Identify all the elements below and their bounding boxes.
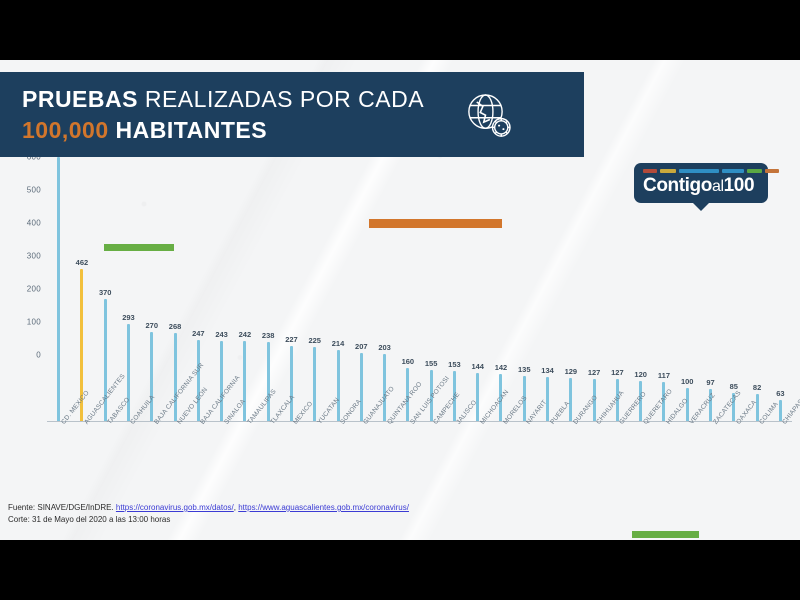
x-label-slot: TLAXCALA [257, 421, 280, 487]
footer-line-2: Corte: 31 de Mayo del 2020 a las 13:00 h… [8, 514, 409, 526]
bar-slot[interactable] [47, 157, 70, 421]
bar-value-label: 225 [308, 336, 321, 345]
y-tick-300: 300 [27, 252, 41, 261]
source-footer: Fuente: SINAVE/DGE/InDRE. https://corona… [8, 502, 409, 526]
title-100000: 100,000 [22, 117, 109, 143]
logo-color-bar-3 [679, 169, 719, 173]
x-label-slot: SONORA [326, 421, 349, 487]
bar-cd-mexico[interactable] [57, 157, 60, 421]
bar-slot[interactable]: 127 [582, 157, 605, 421]
orange-accent-bar [369, 219, 502, 228]
title-text-group: PRUEBAS REALIZADAS POR CADA 100,000 HABI… [22, 85, 424, 145]
bar-sinaloa[interactable] [220, 341, 223, 421]
bar-value-label: 462 [76, 258, 89, 267]
bar-value-label: 214 [332, 339, 345, 348]
y-axis-labels: 0100200300400500600700800 [0, 157, 47, 421]
x-label-slot: SAN LUIS POTOSI [396, 421, 419, 487]
bar-slot[interactable]: 207 [350, 157, 373, 421]
bar-value-label: 129 [565, 367, 578, 376]
bar-slot[interactable]: 225 [303, 157, 326, 421]
x-label-slot: JALISCO [443, 421, 466, 487]
bar-value-label: 207 [355, 342, 368, 351]
logo-color-bar-5 [747, 169, 762, 173]
y-tick-0: 0 [36, 351, 41, 360]
bar-mexico[interactable] [290, 346, 293, 421]
logo-text: Contigoal100 [643, 175, 754, 197]
bar-slot[interactable]: 462 [70, 157, 93, 421]
bar-michoacan[interactable] [476, 373, 479, 421]
bar-value-label: 270 [146, 321, 159, 330]
bar-value-label: 97 [706, 378, 714, 387]
footer-link-coronavirus[interactable]: https://coronavirus.gob.mx/datos/ [116, 503, 234, 512]
x-axis-labels: CD. MEXICOAGUASCALIENTESTABASCOCOAHUILAB… [47, 421, 792, 487]
bar-value-label: 127 [611, 368, 624, 377]
bar-slot[interactable]: 227 [280, 157, 303, 421]
x-label-slot: COLIMA [745, 421, 768, 487]
footer-source-label: Fuente: SINAVE/DGE/InDRE. [8, 503, 114, 512]
x-label-slot: NUEVO LEON [163, 421, 186, 487]
x-label-slot: MEXICO [280, 421, 303, 487]
logo-color-bar-4 [722, 169, 744, 173]
bar-value-label: 238 [262, 331, 275, 340]
bar-sonora[interactable] [337, 350, 340, 421]
bar-value-label: 144 [471, 362, 484, 371]
bar-slot[interactable]: 63 [769, 157, 792, 421]
x-label-slot: CAMPECHE [420, 421, 443, 487]
green-accent-bar-top [104, 244, 174, 251]
logo-100: 100 [724, 175, 755, 196]
bar-puebla[interactable] [546, 377, 549, 421]
bar-baja-california[interactable] [197, 340, 200, 422]
bar-coahuila[interactable] [127, 324, 130, 421]
bar-value-label: 100 [681, 377, 694, 386]
contigo-al-100-logo[interactable]: Contigoal100 [634, 163, 768, 203]
bar-value-label: 155 [425, 359, 438, 368]
bar-value-label: 153 [448, 360, 461, 369]
bar-slot[interactable]: 127 [606, 157, 629, 421]
bar-nuevo-leon[interactable] [174, 333, 177, 421]
logo-color-bar-6 [765, 169, 779, 173]
footer-line-1: Fuente: SINAVE/DGE/InDRE. https://corona… [8, 502, 409, 514]
x-label-slot: OAXACA [722, 421, 745, 487]
bar-value-label: 370 [99, 288, 112, 297]
x-label-slot: MICHOACAN [466, 421, 489, 487]
bar-chart: 0100200300400500600700800 46237029327026… [0, 157, 800, 487]
bar-colima[interactable] [756, 394, 759, 421]
title-habitantes: HABITANTES [109, 117, 267, 143]
bar-baja-california-sur[interactable] [150, 332, 153, 421]
bar-slot[interactable]: 134 [536, 157, 559, 421]
bar-value-label: 160 [402, 357, 415, 366]
title-line-1: PRUEBAS REALIZADAS POR CADA [22, 85, 424, 113]
globe-virus-icon [460, 88, 518, 144]
bar-value-label: 117 [658, 371, 670, 380]
bar-yucatan[interactable] [313, 347, 316, 421]
title-line-1-rest: REALIZADAS POR CADA [138, 86, 424, 112]
logo-color-bar-2 [660, 169, 676, 173]
bar-durango[interactable] [569, 378, 572, 421]
x-label-slot: HIDALGO [652, 421, 675, 487]
slide-canvas: 0100200300400500600700800 46237029327026… [0, 60, 800, 540]
bar-value-label: 135 [518, 365, 531, 374]
footer-link-aguascalientes[interactable]: https://www.aguascalientes.gob.mx/corona… [238, 503, 409, 512]
bar-value-label: 268 [169, 322, 182, 331]
bar-value-label: 227 [285, 335, 298, 344]
x-label-slot: TABASCO [94, 421, 117, 487]
bar-slot[interactable]: 203 [373, 157, 396, 421]
logo-color-bar-1 [643, 169, 657, 173]
bar-slot[interactable]: 144 [466, 157, 489, 421]
y-tick-400: 400 [27, 219, 41, 228]
bar-value-label: 293 [122, 313, 135, 322]
bar-value-label: 203 [378, 343, 391, 352]
bar-slot[interactable]: 238 [257, 157, 280, 421]
x-label-slot: AGUASCALIENTES [70, 421, 93, 487]
x-label-slot: QUERETARO [629, 421, 652, 487]
bar-value-label: 82 [753, 383, 761, 392]
bar-slot[interactable]: 142 [489, 157, 512, 421]
title-line-2: 100,000 HABITANTES [22, 115, 424, 145]
x-label-slot: VERACRUZ [676, 421, 699, 487]
y-tick-100: 100 [27, 318, 41, 327]
bar-chiapas[interactable] [779, 400, 782, 421]
y-tick-200: 200 [27, 285, 41, 294]
title-banner: PRUEBAS REALIZADAS POR CADA 100,000 HABI… [0, 72, 584, 157]
x-label-slot: CD. MEXICO [47, 421, 70, 487]
x-label-slot: NAYARIT [513, 421, 536, 487]
bar-slot[interactable]: 214 [326, 157, 349, 421]
x-label-slot: GUERRERO [606, 421, 629, 487]
bar-value-label: 127 [588, 368, 601, 377]
bar-value-label: 142 [495, 363, 508, 372]
x-label-slot: BAJA CALIFORNIA SUR [140, 421, 163, 487]
logo-al: al [712, 178, 724, 195]
footer-separator: , [234, 503, 236, 512]
x-label-slot: CHIHUAHUA [582, 421, 605, 487]
x-label-slot: DURANGO [559, 421, 582, 487]
bar-value-label: 120 [634, 370, 647, 379]
bar-slot[interactable]: 270 [140, 157, 163, 421]
x-label-slot: YUCATAN [303, 421, 326, 487]
x-label-slot: QUINTANA ROO [373, 421, 396, 487]
green-accent-bar-bottom [632, 531, 699, 538]
x-label-slot: BAJA CALIFORNIA [187, 421, 210, 487]
title-pruebas: PRUEBAS [22, 86, 138, 112]
bar-quintana-roo[interactable] [383, 354, 386, 421]
bar-tlaxcala[interactable] [267, 342, 270, 421]
y-tick-500: 500 [27, 186, 41, 195]
logo-tail [692, 202, 710, 211]
bar-guanajuato[interactable] [360, 353, 363, 421]
logo-contigo: Contigo [643, 175, 712, 196]
bar-value-label: 63 [776, 389, 784, 398]
logo-color-bars [643, 169, 779, 173]
x-label-slot: MORELOS [489, 421, 512, 487]
x-label-slot: PUEBLA [536, 421, 559, 487]
bar-tamaulipas[interactable] [243, 341, 246, 421]
x-label-slot: GUANAJUATO [350, 421, 373, 487]
x-label-slot: TAMAULIPAS [233, 421, 256, 487]
bar-slot[interactable]: 135 [513, 157, 536, 421]
x-label-slot: CHIAPAS [769, 421, 792, 487]
x-label-slot: COAHUILA [117, 421, 140, 487]
x-label-slot: SINALOA [210, 421, 233, 487]
bar-value-label: 134 [541, 366, 554, 375]
x-label-slot: ZACATECAS [699, 421, 722, 487]
bar-value-label: 243 [215, 330, 228, 339]
bar-value-label: 242 [239, 330, 252, 339]
bar-slot[interactable]: 129 [559, 157, 582, 421]
bar-value-label: 247 [192, 329, 205, 338]
